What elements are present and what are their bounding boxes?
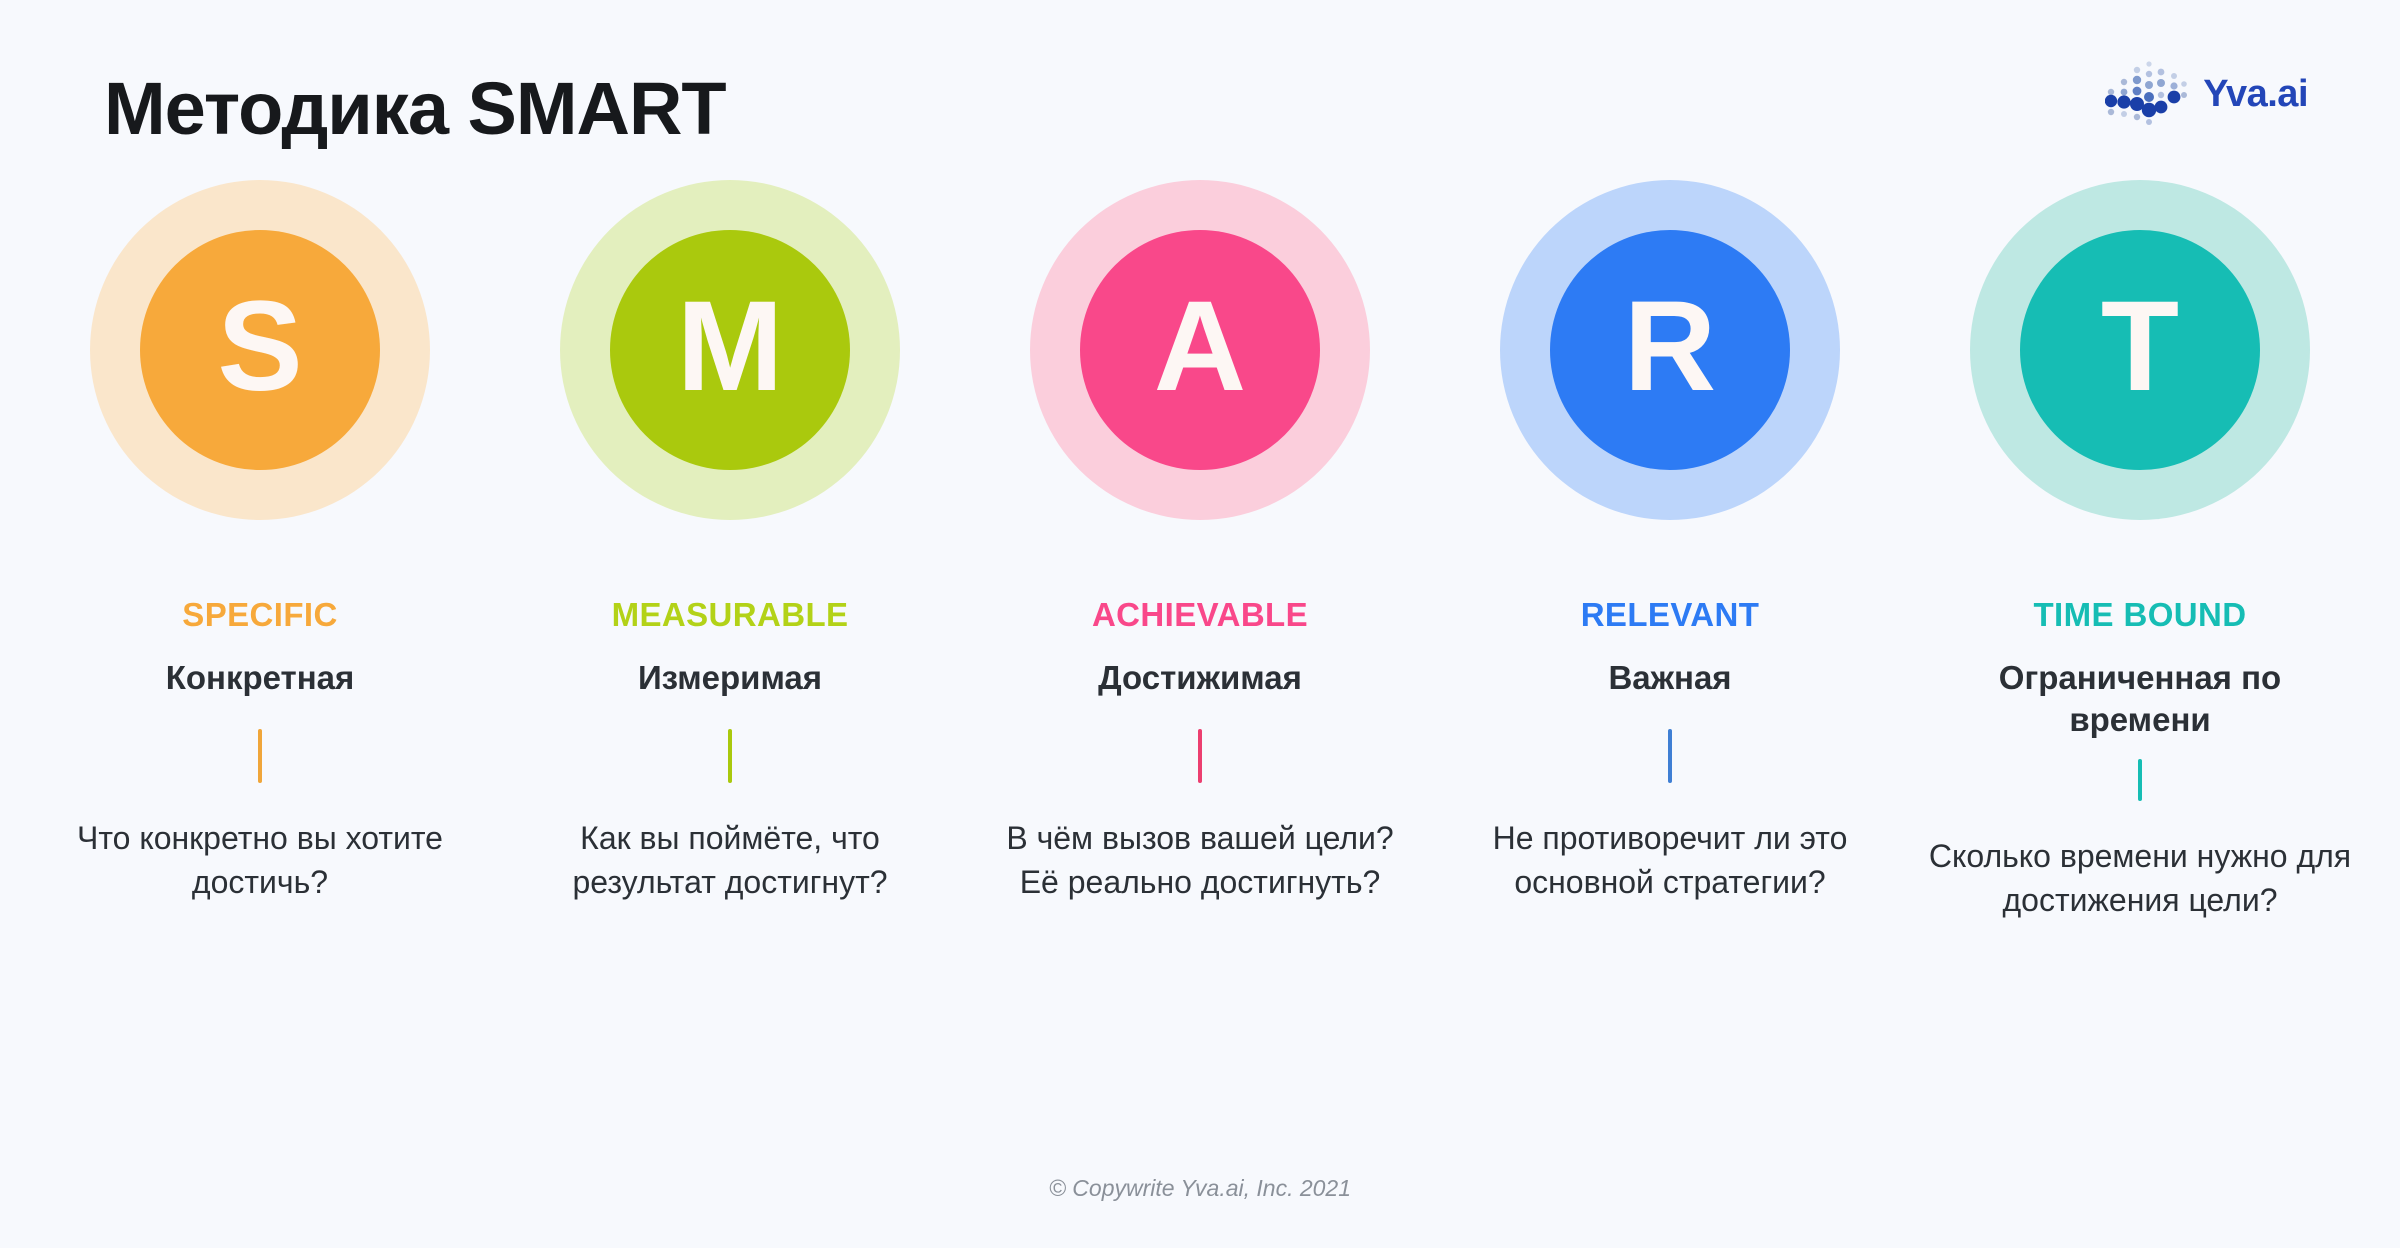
footer-copyright: © Copywrite Yva.ai, Inc. 2021 xyxy=(0,1175,2400,1202)
circle-letter-measurable: M xyxy=(677,283,784,411)
smart-column-achievable: A ACHIEVABLE Достижимая В чём вызов ваше… xyxy=(965,180,1435,904)
ru-label-specific: Конкретная xyxy=(166,657,355,699)
circle-ring-relevant: R xyxy=(1500,180,1840,520)
ru-label-achievable: Достижимая xyxy=(1098,657,1302,699)
smart-column-time-bound: T TIME BOUND Ограниченная по времени Ско… xyxy=(1905,180,2375,923)
yva-pulse-dots-icon xyxy=(2105,52,2187,135)
brand-name: Yva.ai xyxy=(2203,75,2308,113)
circle-disc-time-bound: T xyxy=(2020,230,2260,470)
smart-columns: S SPECIFIC Конкретная Что конкретно вы х… xyxy=(0,180,2400,923)
circle-disc-specific: S xyxy=(140,230,380,470)
eng-label-measurable: MEASURABLE xyxy=(612,598,849,631)
eng-label-achievable: ACHIEVABLE xyxy=(1092,598,1308,631)
ru-label-relevant: Важная xyxy=(1608,657,1731,699)
circle-letter-specific: S xyxy=(217,283,302,411)
smart-column-specific: S SPECIFIC Конкретная Что конкретно вы х… xyxy=(25,180,495,904)
smart-column-measurable: M MEASURABLE Измеримая Как вы поймёте, ч… xyxy=(495,180,965,904)
eng-label-time-bound: TIME BOUND xyxy=(2034,598,2247,631)
circle-ring-measurable: M xyxy=(560,180,900,520)
divider-relevant xyxy=(1668,729,1672,783)
circle-ring-time-bound: T xyxy=(1970,180,2310,520)
ru-label-time-bound: Ограниченная по времени xyxy=(1975,657,2305,741)
smart-column-relevant: R RELEVANT Важная Не противоречит ли это… xyxy=(1435,180,1905,904)
divider-time-bound xyxy=(2138,759,2142,801)
divider-specific xyxy=(258,729,262,783)
circle-letter-time-bound: T xyxy=(2101,283,2179,411)
question-specific: Что конкретно вы хотите достичь? xyxy=(45,817,475,904)
eng-label-specific: SPECIFIC xyxy=(182,598,337,631)
circle-ring-specific: S xyxy=(90,180,430,520)
divider-measurable xyxy=(728,729,732,783)
question-achievable: В чём вызов вашей цели? Её реально дости… xyxy=(985,817,1415,904)
circle-letter-relevant: R xyxy=(1624,283,1716,411)
question-time-bound: Сколько времени нужно для достижения цел… xyxy=(1925,835,2355,922)
circle-disc-achievable: A xyxy=(1080,230,1320,470)
question-relevant: Не противоречит ли это основной стратеги… xyxy=(1455,817,1885,904)
page-title: Методика SMART xyxy=(104,66,726,151)
brand-logo: Yva.ai xyxy=(2105,52,2308,135)
circle-disc-measurable: M xyxy=(610,230,850,470)
ru-label-measurable: Измеримая xyxy=(638,657,822,699)
page-header: Методика SMART xyxy=(0,0,2400,190)
question-measurable: Как вы поймёте, что результат достигнут? xyxy=(515,817,945,904)
circle-ring-achievable: A xyxy=(1030,180,1370,520)
eng-label-relevant: RELEVANT xyxy=(1581,598,1760,631)
circle-disc-relevant: R xyxy=(1550,230,1790,470)
divider-achievable xyxy=(1198,729,1202,783)
circle-letter-achievable: A xyxy=(1154,283,1246,411)
